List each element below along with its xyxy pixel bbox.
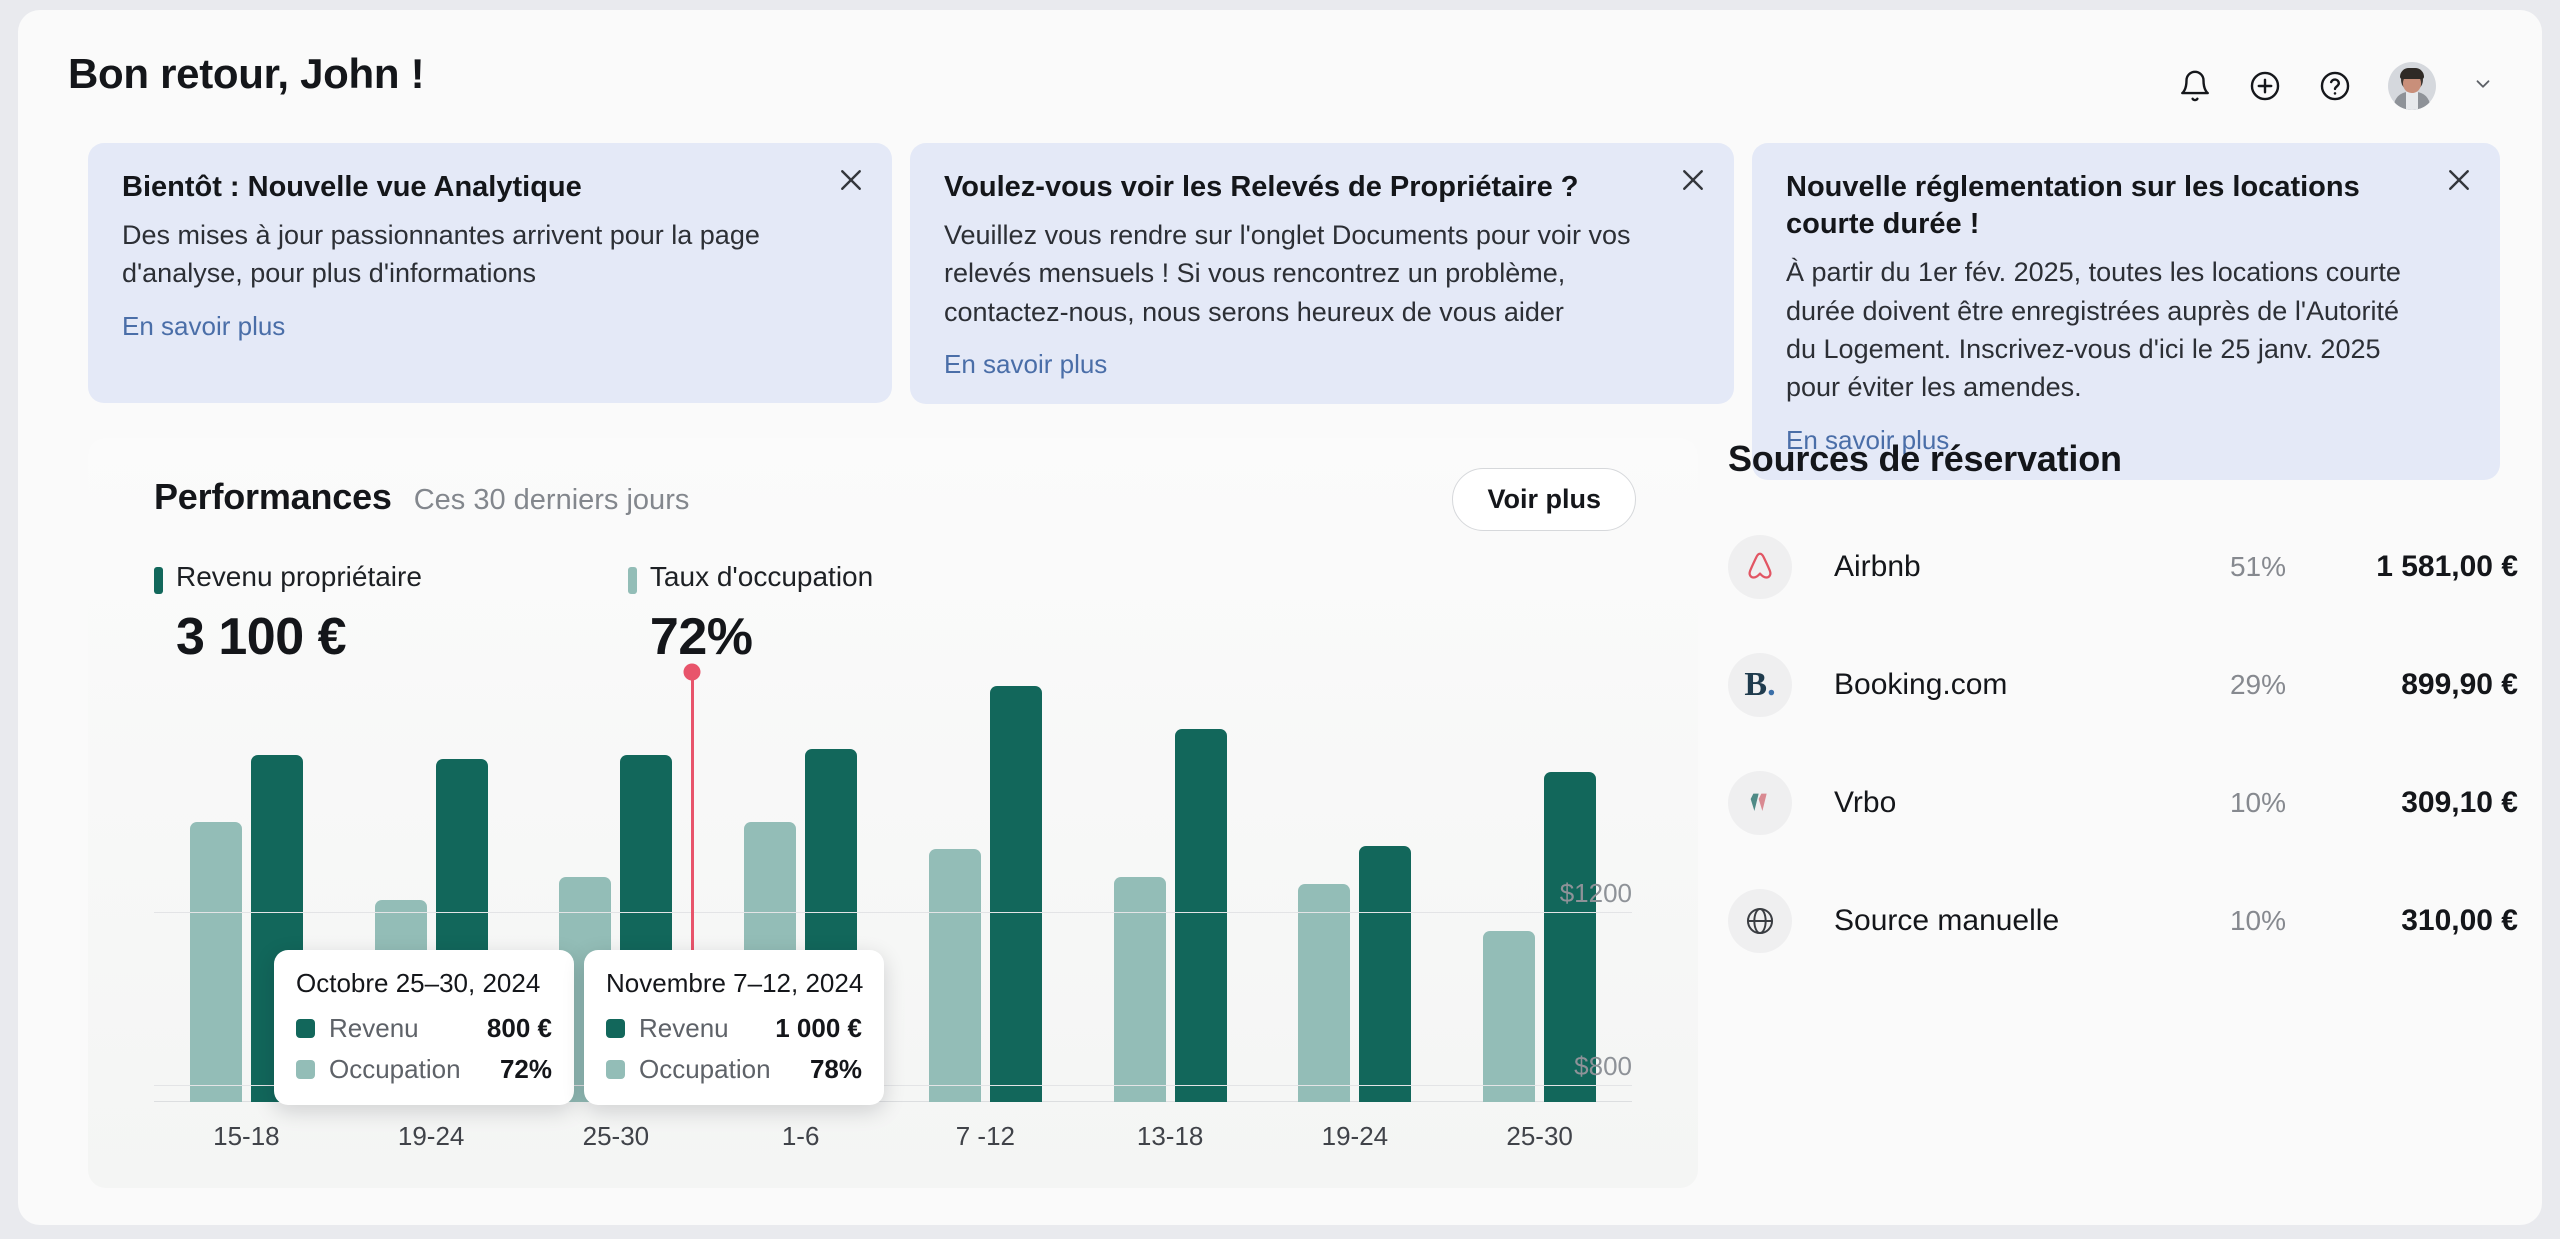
chart-tooltip: Novembre 7–12, 2024Revenu1 000 €Occupati… bbox=[584, 950, 884, 1105]
bar-occupation[interactable] bbox=[929, 849, 981, 1102]
globe-icon bbox=[1728, 889, 1792, 953]
tooltip-series-value: 1 000 € bbox=[775, 1013, 862, 1044]
chart-y-axis-label: $1200 bbox=[1560, 878, 1632, 909]
tooltip-row: Occupation72% bbox=[296, 1054, 552, 1085]
metric-owner-revenue: Revenu propriétaire 3 100 € bbox=[154, 563, 422, 667]
chart-x-label: 15-18 bbox=[154, 1121, 339, 1152]
chart-bar-group[interactable] bbox=[1447, 738, 1632, 1102]
tooltip-series-value: 800 € bbox=[487, 1013, 552, 1044]
see-more-button[interactable]: Voir plus bbox=[1452, 468, 1636, 531]
performance-subtitle: Ces 30 derniers jours bbox=[414, 484, 690, 517]
bell-icon[interactable] bbox=[2178, 69, 2212, 103]
chart-x-label: 19-24 bbox=[1263, 1121, 1448, 1152]
bar-occupation[interactable] bbox=[1483, 931, 1535, 1102]
bar-revenue[interactable] bbox=[990, 686, 1042, 1102]
app-header: Bon retour, John ! bbox=[18, 10, 2542, 120]
banner-regulation: Nouvelle réglementation sur les location… bbox=[1752, 143, 2500, 480]
tooltip-color-swatch bbox=[606, 1019, 625, 1038]
page-title: Bon retour, John ! bbox=[68, 50, 424, 98]
source-amount: 1 581,00 € bbox=[2322, 550, 2518, 584]
metric-label: Revenu propriétaire bbox=[176, 563, 422, 591]
close-icon[interactable] bbox=[1678, 165, 1708, 195]
booking-icon: B. bbox=[1728, 653, 1792, 717]
metric-color-swatch bbox=[154, 567, 163, 594]
list-item[interactable]: Source manuelle 10% 310,00 € bbox=[1728, 862, 2518, 980]
tooltip-color-swatch bbox=[606, 1060, 625, 1079]
chart-bar-group[interactable] bbox=[1078, 738, 1263, 1102]
close-icon[interactable] bbox=[2444, 165, 2474, 195]
banner-body: Veuillez vous rendre sur l'onglet Docume… bbox=[944, 216, 1664, 331]
source-percent: 29% bbox=[2230, 669, 2286, 701]
list-item[interactable]: Airbnb 51% 1 581,00 € bbox=[1728, 508, 2518, 626]
source-percent: 10% bbox=[2230, 905, 2286, 937]
avatar[interactable] bbox=[2388, 62, 2436, 110]
bar-occupation[interactable] bbox=[190, 822, 242, 1102]
chevron-down-icon[interactable] bbox=[2472, 73, 2494, 100]
banner-analytics: Bientôt : Nouvelle vue Analytique Des mi… bbox=[88, 143, 892, 403]
chart-bar-group[interactable] bbox=[1263, 738, 1448, 1102]
booking-sources-panel: Sources de réservation Airbnb 51% 1 581,… bbox=[1728, 438, 2518, 980]
app-window: Bon retour, John ! bbox=[18, 10, 2542, 1225]
vrbo-icon bbox=[1728, 771, 1792, 835]
tooltip-color-swatch bbox=[296, 1060, 315, 1079]
chart-y-axis-label: $800 bbox=[1574, 1051, 1632, 1082]
source-amount: 310,00 € bbox=[2322, 904, 2518, 938]
metric-value: 3 100 € bbox=[176, 607, 422, 667]
metric-label: Taux d'occupation bbox=[650, 563, 873, 591]
source-name: Booking.com bbox=[1834, 668, 2007, 702]
header-actions bbox=[2178, 62, 2494, 110]
banner-learn-more-link[interactable]: En savoir plus bbox=[944, 349, 1107, 380]
close-icon[interactable] bbox=[836, 165, 866, 195]
performance-header: Performances Ces 30 derniers jours bbox=[154, 476, 689, 518]
metric-occupancy-rate: Taux d'occupation 72% bbox=[628, 563, 873, 667]
bar-revenue[interactable] bbox=[1359, 846, 1411, 1102]
source-amount: 309,10 € bbox=[2322, 786, 2518, 820]
tooltip-series-name: Occupation bbox=[639, 1054, 771, 1085]
banner-row: Bientôt : Nouvelle vue Analytique Des mi… bbox=[88, 143, 2500, 480]
source-percent: 51% bbox=[2230, 551, 2286, 583]
tooltip-title: Novembre 7–12, 2024 bbox=[606, 968, 862, 999]
source-name: Airbnb bbox=[1834, 550, 1921, 584]
chart-x-axis-labels: 15-1819-2425-301-67 -1213-1819-2425-30 bbox=[154, 1121, 1632, 1152]
chart-tooltip: Octobre 25–30, 2024Revenu800 €Occupation… bbox=[274, 950, 574, 1105]
tooltip-series-value: 78% bbox=[810, 1054, 862, 1085]
bar-revenue[interactable] bbox=[1175, 729, 1227, 1102]
chart-x-label: 13-18 bbox=[1078, 1121, 1263, 1152]
banner-learn-more-link[interactable]: En savoir plus bbox=[122, 311, 285, 342]
chart-x-label: 1-6 bbox=[708, 1121, 893, 1152]
list-item[interactable]: Vrbo 10% 309,10 € bbox=[1728, 744, 2518, 862]
list-item[interactable]: B. Booking.com 29% 899,90 € bbox=[1728, 626, 2518, 744]
tooltip-row: Occupation78% bbox=[606, 1054, 862, 1085]
tooltip-series-name: Revenu bbox=[329, 1013, 419, 1044]
bar-occupation[interactable] bbox=[1114, 877, 1166, 1102]
airbnb-icon bbox=[1728, 535, 1792, 599]
tooltip-title: Octobre 25–30, 2024 bbox=[296, 968, 552, 999]
booking-sources-title: Sources de réservation bbox=[1728, 438, 2518, 480]
banner-title: Voulez-vous voir les Relevés de Propriét… bbox=[944, 169, 1664, 206]
chart-hover-dot bbox=[684, 664, 701, 681]
source-amount: 899,90 € bbox=[2322, 668, 2518, 702]
chart-x-label: 25-30 bbox=[524, 1121, 709, 1152]
banner-body: Des mises à jour passionnantes arrivent … bbox=[122, 216, 822, 293]
help-circle-icon[interactable] bbox=[2318, 69, 2352, 103]
banner-body: À partir du 1er fév. 2025, toutes les lo… bbox=[1786, 253, 2430, 406]
performance-title: Performances bbox=[154, 476, 392, 518]
chart-x-label: 25-30 bbox=[1447, 1121, 1632, 1152]
banner-title: Nouvelle réglementation sur les location… bbox=[1786, 169, 2430, 243]
source-name: Vrbo bbox=[1834, 786, 1896, 820]
chart-bar-group[interactable] bbox=[893, 738, 1078, 1102]
performance-card: Performances Ces 30 derniers jours Voir … bbox=[88, 438, 1698, 1188]
tooltip-row: Revenu800 € bbox=[296, 1013, 552, 1044]
tooltip-series-value: 72% bbox=[500, 1054, 552, 1085]
banner-statements: Voulez-vous voir les Relevés de Propriét… bbox=[910, 143, 1734, 404]
tooltip-series-name: Revenu bbox=[639, 1013, 729, 1044]
tooltip-color-swatch bbox=[296, 1019, 315, 1038]
bar-occupation[interactable] bbox=[1298, 884, 1350, 1102]
chart-gridline bbox=[154, 912, 1632, 913]
banner-title: Bientôt : Nouvelle vue Analytique bbox=[122, 169, 822, 206]
performance-bar-chart[interactable]: $1200$800Octobre 25–30, 2024Revenu800 €O… bbox=[154, 738, 1632, 1102]
chart-x-label: 7 -12 bbox=[893, 1121, 1078, 1152]
plus-circle-icon[interactable] bbox=[2248, 69, 2282, 103]
chart-x-label: 19-24 bbox=[339, 1121, 524, 1152]
metric-color-swatch bbox=[628, 567, 637, 594]
metrics-row: Revenu propriétaire 3 100 € Taux d'occup… bbox=[154, 563, 873, 667]
tooltip-row: Revenu1 000 € bbox=[606, 1013, 862, 1044]
metric-value: 72% bbox=[650, 607, 873, 667]
tooltip-series-name: Occupation bbox=[329, 1054, 461, 1085]
source-name: Source manuelle bbox=[1834, 904, 2059, 938]
source-percent: 10% bbox=[2230, 787, 2286, 819]
